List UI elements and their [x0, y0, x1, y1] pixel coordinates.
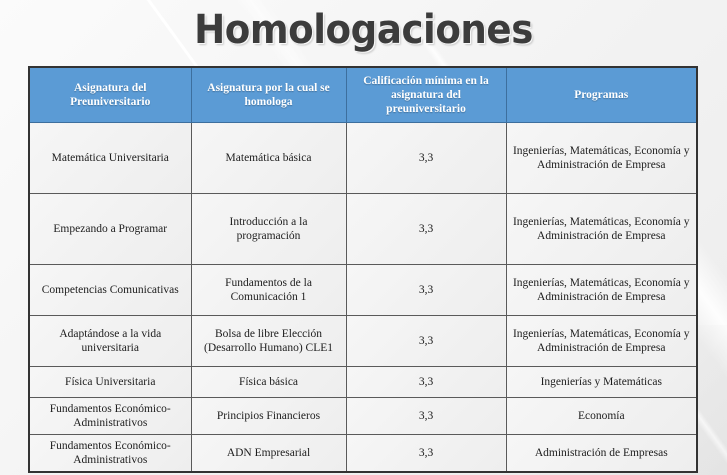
slide-canvas: Homologaciones Asignatura del Preunivers… [0, 0, 727, 475]
table-header-row: Asignatura del Preuniversitario Asignatu… [29, 67, 697, 123]
cell-asignatura-preuniversitario: Fundamentos Económico-Administrativos [29, 435, 191, 473]
cell-programas: Ingenierías, Matemáticas, Economía y Adm… [506, 123, 697, 194]
cell-calificacion-minima: 3,3 [346, 194, 506, 265]
cell-asignatura-preuniversitario: Adaptándose a la vida universitaria [29, 316, 191, 367]
cell-programas: Ingenierías, Matemáticas, Economía y Adm… [506, 265, 697, 316]
table-row: Física UniversitariaFísica básica3,3Inge… [29, 367, 697, 398]
cell-asignatura-preuniversitario: Competencias Comunicativas [29, 265, 191, 316]
cell-programas: Ingenierías y Matemáticas [506, 367, 697, 398]
cell-programas: Ingenierías, Matemáticas, Economía y Adm… [506, 316, 697, 367]
table-container: Asignatura del Preuniversitario Asignatu… [28, 66, 696, 473]
table-row: Fundamentos Económico-AdministrativosADN… [29, 435, 697, 473]
table-row: Empezando a ProgramarIntroducción a la p… [29, 194, 697, 265]
cell-asignatura-preuniversitario: Matemática Universitaria [29, 123, 191, 194]
cell-asignatura-homologa: Física básica [191, 367, 346, 398]
table-row: Competencias ComunicativasFundamentos de… [29, 265, 697, 316]
table-row: Matemática UniversitariaMatemática básic… [29, 123, 697, 194]
table-row: Fundamentos Económico-AdministrativosPri… [29, 398, 697, 435]
cell-programas: Administración de Empresas [506, 435, 697, 473]
cell-asignatura-homologa: Principios Financieros [191, 398, 346, 435]
column-header-programas: Programas [506, 67, 697, 123]
cell-calificacion-minima: 3,3 [346, 398, 506, 435]
table-header: Asignatura del Preuniversitario Asignatu… [29, 67, 697, 123]
cell-asignatura-preuniversitario: Empezando a Programar [29, 194, 191, 265]
column-header-asignatura-homologa: Asignatura por la cual se homologa [191, 67, 346, 123]
cell-asignatura-homologa: Introducción a la programación [191, 194, 346, 265]
cell-asignatura-homologa: Matemática básica [191, 123, 346, 194]
cell-calificacion-minima: 3,3 [346, 435, 506, 473]
cell-asignatura-homologa: ADN Empresarial [191, 435, 346, 473]
table-body: Matemática UniversitariaMatemática básic… [29, 123, 697, 473]
cell-asignatura-homologa: Bolsa de libre Elección (Desarrollo Huma… [191, 316, 346, 367]
column-header-asignatura-preuniversitario: Asignatura del Preuniversitario [29, 67, 191, 123]
cell-calificacion-minima: 3,3 [346, 367, 506, 398]
cell-programas: Ingenierías, Matemáticas, Economía y Adm… [506, 194, 697, 265]
table-row: Adaptándose a la vida universitariaBolsa… [29, 316, 697, 367]
cell-asignatura-preuniversitario: Física Universitaria [29, 367, 191, 398]
homologaciones-table: Asignatura del Preuniversitario Asignatu… [28, 66, 698, 473]
page-title: Homologaciones [25, 6, 701, 54]
cell-programas: Economía [506, 398, 697, 435]
cell-asignatura-preuniversitario: Fundamentos Económico-Administrativos [29, 398, 191, 435]
cell-calificacion-minima: 3,3 [346, 316, 506, 367]
cell-calificacion-minima: 3,3 [346, 265, 506, 316]
column-header-calificacion-minima: Calificación mínima en la asignatura del… [346, 67, 506, 123]
cell-asignatura-homologa: Fundamentos de la Comunicación 1 [191, 265, 346, 316]
cell-calificacion-minima: 3,3 [346, 123, 506, 194]
